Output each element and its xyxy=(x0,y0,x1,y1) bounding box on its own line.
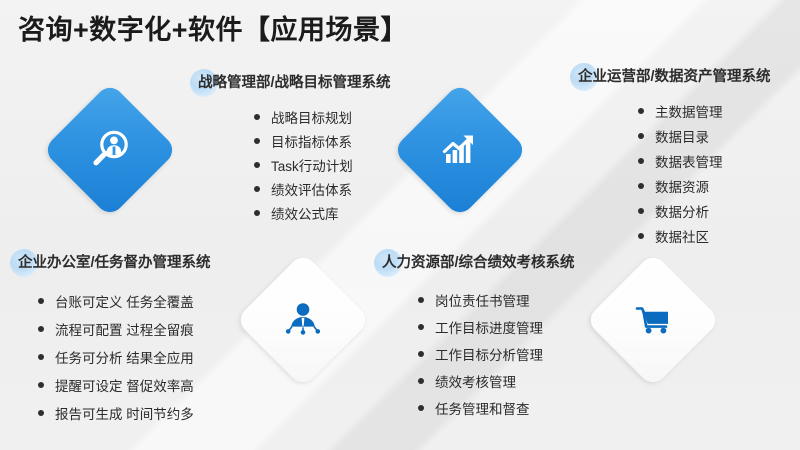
list-item: 绩效评估体系 xyxy=(254,177,391,201)
list-item: 数据资源 xyxy=(638,173,771,198)
section-header-office: 企业办公室/任务督办管理系统 xyxy=(16,252,211,274)
section-header-label: 企业运营部/数据资产管理系统 xyxy=(578,69,771,85)
section-header-label: 企业办公室/任务督办管理系统 xyxy=(18,255,211,271)
list-item-label: 数据资源 xyxy=(655,176,709,196)
list-item: 工作目标进度管理 xyxy=(418,313,575,340)
bullet-dot-icon xyxy=(254,138,260,144)
list-item: 数据目录 xyxy=(638,123,771,148)
list-item: 数据社区 xyxy=(638,223,771,248)
list-item: 绩效公式库 xyxy=(254,201,391,225)
section-strategy: 战略管理部/战略目标管理系统 战略目标规划 目标指标体系 Task行动计划 绩效… xyxy=(196,72,391,225)
section-office: 企业办公室/任务督办管理系统 台账可定义 任务全覆盖 流程可配置 过程全留痕 任… xyxy=(16,252,211,427)
bullet-dot-icon xyxy=(638,208,644,214)
list-item: 战略目标规划 xyxy=(254,105,391,129)
section-header-strategy: 战略管理部/战略目标管理系统 xyxy=(196,72,391,94)
bullet-dot-icon xyxy=(254,210,260,216)
list-item: 任务可分析 结果全应用 xyxy=(38,343,211,371)
bullet-dot-icon xyxy=(418,297,424,303)
list-item: 任务管理和督查 xyxy=(418,394,575,421)
bullet-dot-icon xyxy=(38,326,44,332)
bullet-dot-icon xyxy=(418,405,424,411)
bullet-dot-icon xyxy=(38,382,44,388)
section-ops: 企业运营部/数据资产管理系统 主数据管理 数据目录 数据表管理 数据资源 数据分… xyxy=(576,66,771,248)
list-item: 岗位责任书管理 xyxy=(418,286,575,313)
section-hr: 人力资源部/综合绩效考核系统 岗位责任书管理 工作目标进度管理 工作目标分析管理… xyxy=(380,252,575,421)
bullet-list-strategy: 战略目标规划 目标指标体系 Task行动计划 绩效评估体系 绩效公式库 xyxy=(254,105,391,225)
bullet-dot-icon xyxy=(418,351,424,357)
blue-diamond-shape xyxy=(392,82,528,218)
white-diamond-shape xyxy=(585,252,721,388)
list-item-label: 报告可生成 时间节约多 xyxy=(55,403,194,423)
list-item-label: 提醒可设定 督促效率高 xyxy=(55,375,194,395)
list-item-label: 岗位责任书管理 xyxy=(435,290,530,310)
list-item-label: 主数据管理 xyxy=(655,101,723,121)
bullet-dot-icon xyxy=(638,158,644,164)
section-header-label: 人力资源部/综合绩效考核系统 xyxy=(382,255,575,271)
list-item-label: 台账可定义 任务全覆盖 xyxy=(55,291,194,311)
bullet-dot-icon xyxy=(38,354,44,360)
bullet-dot-icon xyxy=(418,378,424,384)
list-item-label: 工作目标进度管理 xyxy=(435,317,543,337)
list-item: 目标指标体系 xyxy=(254,129,391,153)
person-network-icon xyxy=(280,297,326,343)
list-item: 绩效考核管理 xyxy=(418,367,575,394)
list-item-label: 战略目标规划 xyxy=(271,107,352,127)
bullet-dot-icon xyxy=(254,162,260,168)
bullet-dot-icon xyxy=(638,108,644,114)
list-item: 工作目标分析管理 xyxy=(418,340,575,367)
list-item-label: 绩效公式库 xyxy=(271,203,339,223)
list-item: 数据分析 xyxy=(638,198,771,223)
white-diamond-shape xyxy=(235,252,371,388)
list-item-label: 数据表管理 xyxy=(655,151,723,171)
list-item: 主数据管理 xyxy=(638,98,771,123)
list-item: Task行动计划 xyxy=(254,153,391,177)
list-item: 数据表管理 xyxy=(638,148,771,173)
bullet-dot-icon xyxy=(38,410,44,416)
slide-canvas: 咨询+数字化+软件【应用场景】 xyxy=(0,0,800,450)
icon-tile-hr xyxy=(605,272,701,368)
list-item-label: 工作目标分析管理 xyxy=(435,344,543,364)
list-item: 报告可生成 时间节约多 xyxy=(38,399,211,427)
bullet-dot-icon xyxy=(254,186,260,192)
bullet-dot-icon xyxy=(38,298,44,304)
list-item-label: 绩效评估体系 xyxy=(271,179,352,199)
icon-tile-strategy xyxy=(62,102,158,198)
list-item: 提醒可设定 督促效率高 xyxy=(38,371,211,399)
bullet-dot-icon xyxy=(638,133,644,139)
bullet-list-hr: 岗位责任书管理 工作目标进度管理 工作目标分析管理 绩效考核管理 任务管理和督查 xyxy=(418,286,575,421)
list-item-label: 绩效考核管理 xyxy=(435,371,516,391)
bullet-list-office: 台账可定义 任务全覆盖 流程可配置 过程全留痕 任务可分析 结果全应用 提醒可设… xyxy=(38,287,211,427)
list-item-label: 目标指标体系 xyxy=(271,131,352,151)
list-item: 台账可定义 任务全覆盖 xyxy=(38,287,211,315)
list-item-label: 数据分析 xyxy=(655,201,709,221)
bullet-dot-icon xyxy=(638,183,644,189)
icon-tile-office xyxy=(255,272,351,368)
blue-diamond-shape xyxy=(42,82,178,218)
bullet-dot-icon xyxy=(418,324,424,330)
list-item-label: 任务可分析 结果全应用 xyxy=(55,347,194,367)
section-header-hr: 人力资源部/综合绩效考核系统 xyxy=(380,252,575,274)
list-item-label: 数据目录 xyxy=(655,126,709,146)
page-title: 咨询+数字化+软件【应用场景】 xyxy=(18,8,408,47)
list-item-label: 数据社区 xyxy=(655,226,709,246)
bullet-dot-icon xyxy=(638,233,644,239)
section-header-label: 战略管理部/战略目标管理系统 xyxy=(198,75,391,91)
bullet-list-ops: 主数据管理 数据目录 数据表管理 数据资源 数据分析 数据社区 xyxy=(638,98,771,248)
bullet-dot-icon xyxy=(254,114,260,120)
shopping-cart-icon xyxy=(630,297,676,343)
icon-tile-ops xyxy=(412,102,508,198)
list-item-label: Task行动计划 xyxy=(271,155,353,175)
bar-chart-arrow-icon xyxy=(437,127,483,173)
list-item: 流程可配置 过程全留痕 xyxy=(38,315,211,343)
section-header-ops: 企业运营部/数据资产管理系统 xyxy=(576,66,771,88)
list-item-label: 流程可配置 过程全留痕 xyxy=(55,319,194,339)
list-item-label: 任务管理和督查 xyxy=(435,398,530,418)
magnifier-person-icon xyxy=(87,127,133,173)
